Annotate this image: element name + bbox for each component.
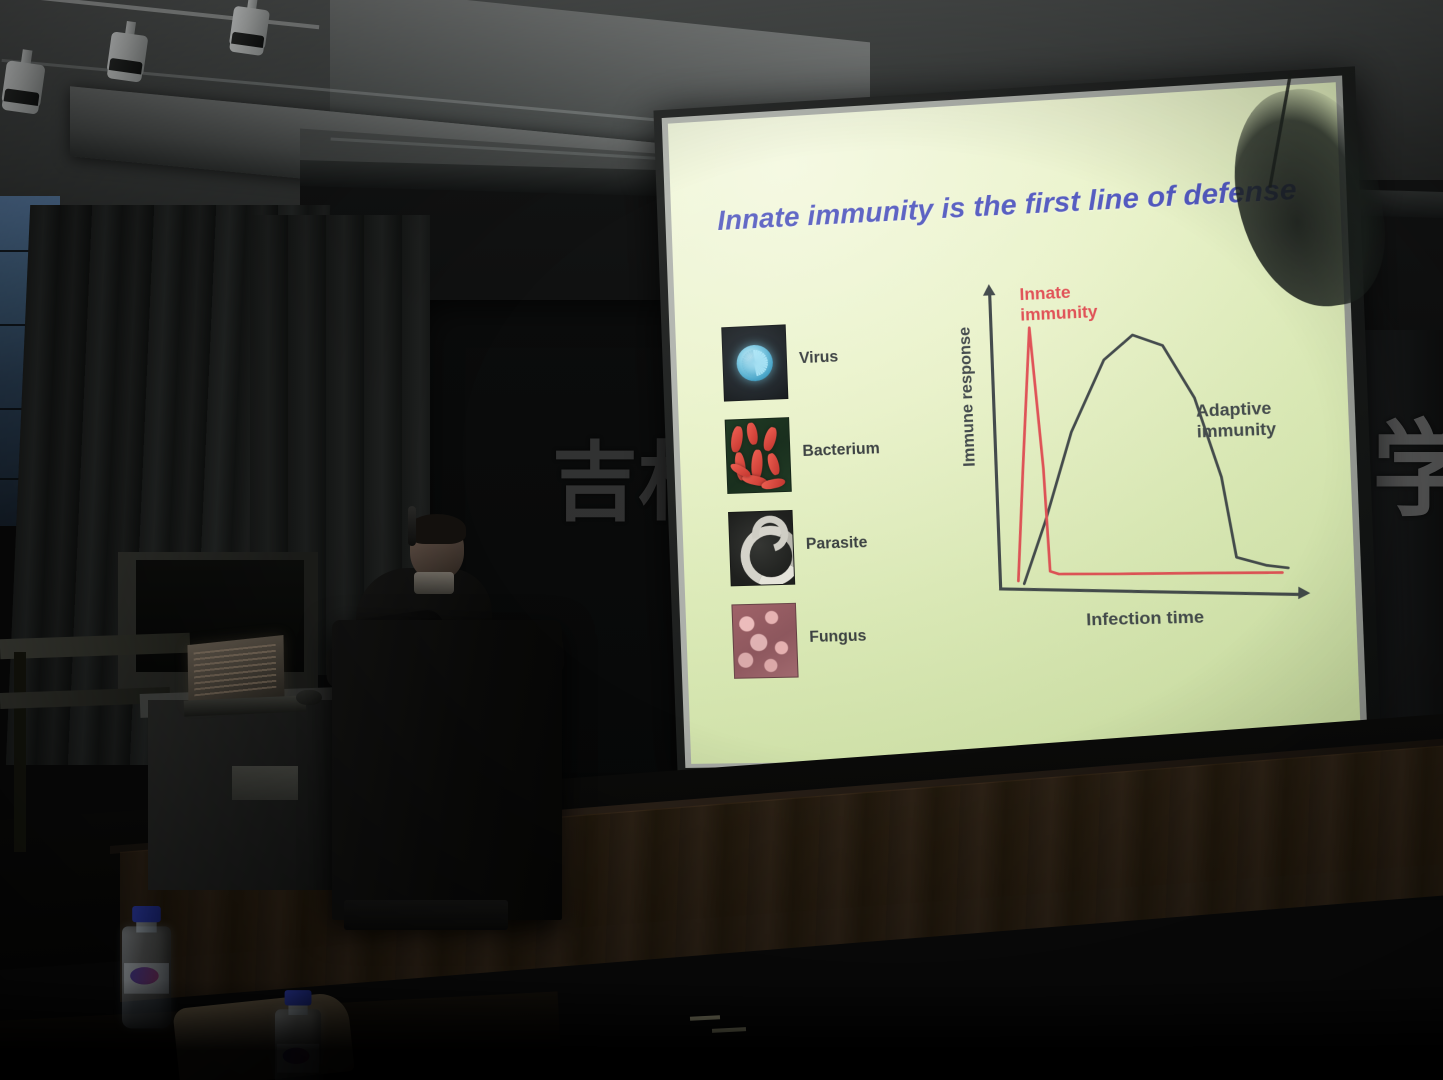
virus-icon: [721, 324, 788, 401]
list-item: Fungus: [731, 599, 948, 691]
floor-marker-tape: [712, 1027, 746, 1033]
wall-chinese-character-2: 学: [1372, 418, 1443, 522]
floor-marker-tape: [690, 1015, 720, 1021]
pathogen-label: Virus: [799, 348, 839, 368]
laptop-screen-content: [194, 644, 277, 697]
bottle-label-logo: [283, 1048, 310, 1064]
projection-screen: Innate immunity is the first line of def…: [653, 66, 1391, 800]
presentation-slide: Innate immunity is the first line of def…: [668, 82, 1362, 764]
ceiling-spotlight-icon: [106, 19, 150, 81]
bottle-cap: [132, 906, 161, 922]
pathogen-label: Bacterium: [802, 440, 880, 461]
parasite-icon: [728, 510, 795, 586]
presenter-hair: [408, 514, 466, 544]
pathogen-label: Parasite: [806, 534, 868, 554]
pathogen-list: Virus Bacterium: [721, 317, 949, 696]
side-table-leg: [14, 652, 26, 852]
bacterium-icon: [725, 417, 792, 494]
microphone-icon: [408, 506, 416, 546]
mouse[interactable]: [296, 690, 322, 705]
list-item: Parasite: [728, 505, 945, 598]
slide-title: Innate immunity is the first line of def…: [717, 172, 1314, 237]
presenter-collar: [414, 572, 454, 594]
podium: [332, 620, 562, 920]
foreground-bag: [172, 991, 354, 1080]
podium-base: [344, 900, 508, 930]
ceiling-spotlight-icon: [1, 47, 48, 112]
fungus-icon: [731, 603, 798, 679]
bottle-cap: [285, 990, 312, 1005]
bottle-label-logo: [130, 967, 159, 984]
pathogen-label: Fungus: [809, 627, 867, 647]
innate-immunity-curve: [1009, 317, 1282, 581]
adaptive-immunity-curve: [1015, 328, 1288, 583]
list-item: Bacterium: [725, 411, 942, 506]
av-cabinet-panel: [232, 766, 298, 800]
list-item: Virus: [721, 317, 938, 413]
immune-response-chart: Immune response Infection time Innate im…: [928, 273, 1325, 659]
lecture-hall-photo: 吉林 学 Innate immunity is the first line o…: [0, 0, 1443, 1080]
chart-curves: [928, 273, 1325, 659]
